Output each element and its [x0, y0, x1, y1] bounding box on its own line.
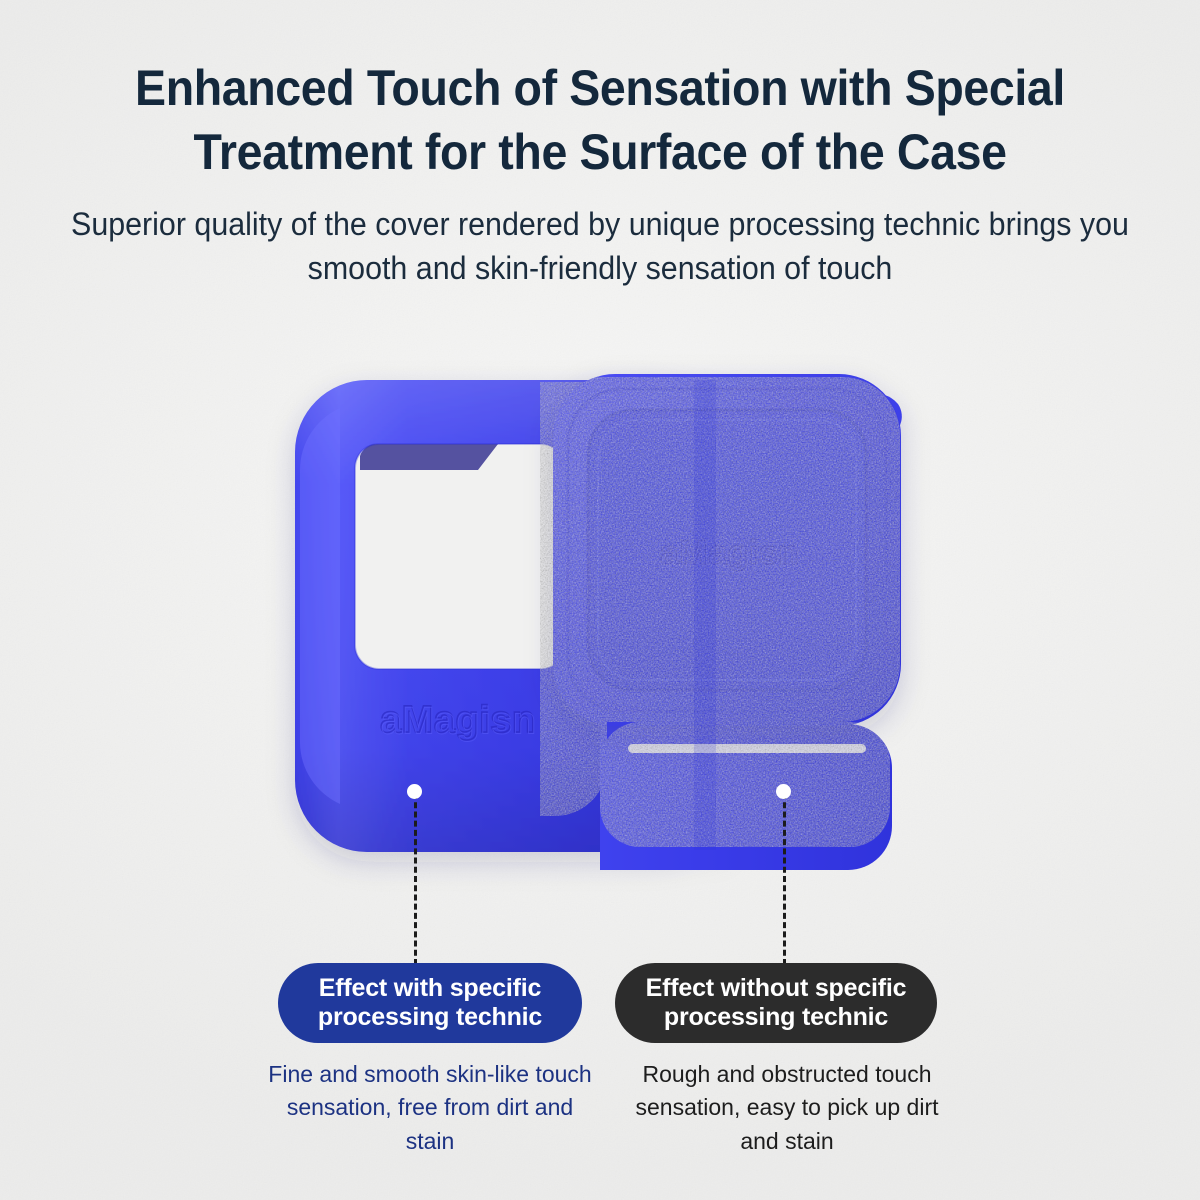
rough-texture-overlay — [540, 374, 901, 870]
page-title: Enhanced Touch of Sensation with Special… — [42, 56, 1158, 184]
leader-line-bad — [783, 793, 786, 965]
screen-cutout — [355, 444, 565, 669]
leader-line-good — [414, 793, 417, 965]
callout-dot-good — [407, 784, 422, 799]
case-brand-emboss: aMagisn aMagisn — [380, 699, 537, 743]
badge-effect-with-processing: Effect with specific processing technic — [278, 963, 582, 1043]
svg-text:aMagisn: aMagisn — [381, 701, 537, 743]
page-subtitle: Superior quality of the cover rendered b… — [30, 203, 1170, 291]
caption-effect-with-processing: Fine and smooth skin-like touch sensatio… — [265, 1058, 595, 1158]
badge-effect-without-processing: Effect without specific processing techn… — [615, 963, 937, 1043]
product-image: aMagisn aMagisn — [0, 352, 1200, 892]
caption-effect-without-processing: Rough and obstructed touch sensation, ea… — [622, 1058, 952, 1158]
callout-dot-bad — [776, 784, 791, 799]
